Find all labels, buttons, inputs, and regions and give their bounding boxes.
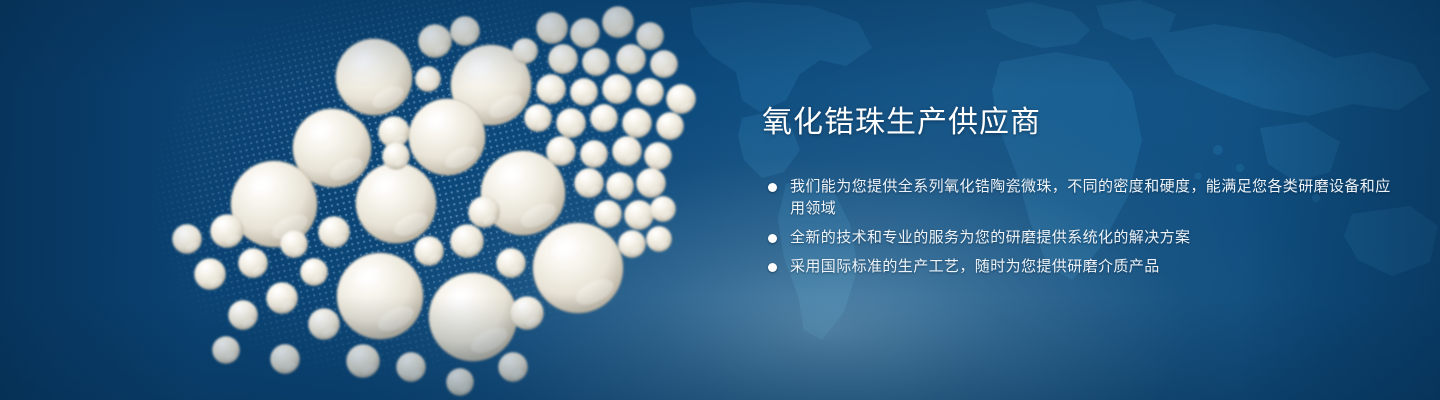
bead-cluster-illustration <box>150 0 720 400</box>
bullet-text: 我们能为您提供全系列氧化锆陶瓷微珠，不同的密度和硬度，能满足您各类研磨设备和应用… <box>790 176 1402 220</box>
bullet-dot-icon <box>768 263 777 272</box>
list-item: 采用国际标准的生产工艺，随时为您提供研磨介质产品 <box>762 256 1402 278</box>
bullet-dot-icon <box>768 183 777 192</box>
feature-bullet-list: 我们能为您提供全系列氧化锆陶瓷微珠，不同的密度和硬度，能满足您各类研磨设备和应用… <box>762 176 1402 278</box>
list-item: 我们能为您提供全系列氧化锆陶瓷微珠，不同的密度和硬度，能满足您各类研磨设备和应用… <box>762 176 1402 220</box>
bullet-text: 全新的技术和专业的服务为您的研磨提供系统化的解决方案 <box>790 227 1402 249</box>
list-item: 全新的技术和专业的服务为您的研磨提供系统化的解决方案 <box>762 227 1402 249</box>
hero-banner: 氧化锆珠生产供应商 我们能为您提供全系列氧化锆陶瓷微珠，不同的密度和硬度，能满足… <box>0 0 1440 400</box>
bullet-dot-icon <box>768 234 777 243</box>
bullet-text: 采用国际标准的生产工艺，随时为您提供研磨介质产品 <box>790 256 1402 278</box>
product-photo-zirconia-beads <box>150 0 720 400</box>
banner-copy: 氧化锆珠生产供应商 我们能为您提供全系列氧化锆陶瓷微珠，不同的密度和硬度，能满足… <box>762 104 1402 278</box>
page-title: 氧化锆珠生产供应商 <box>762 104 1402 142</box>
